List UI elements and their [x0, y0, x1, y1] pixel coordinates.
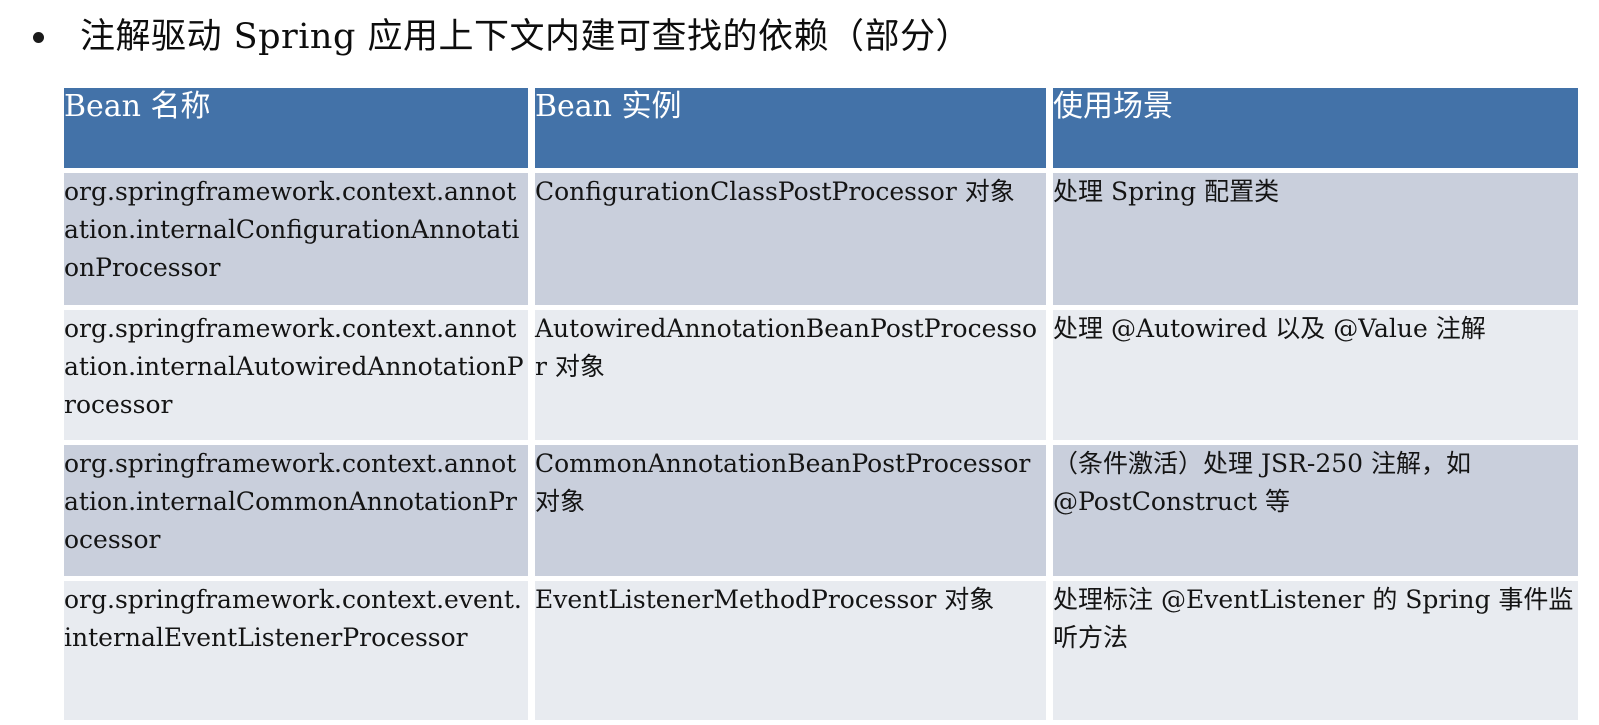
cell-bean-name-text: org.springframework.context.event.intern… [64, 581, 528, 657]
cell-usage: 处理 Spring 配置类 [1053, 173, 1578, 305]
cell-usage-text: 处理标注 @EventListener 的 Spring 事件监听方法 [1053, 581, 1578, 657]
cell-usage: 处理标注 @EventListener 的 Spring 事件监听方法 [1053, 581, 1578, 720]
row-gutter-1 [528, 581, 535, 720]
column-header-bean-instance-label: Bean 实例 [535, 89, 682, 124]
cell-bean-instance: AutowiredAnnotationBeanPostProcessor 对象 [535, 310, 1046, 440]
dependency-table-wrapper: Bean 名称 Bean 实例 使用场景 [64, 88, 1578, 710]
table-row[interactable]: org.springframework.context.annotation.i… [64, 445, 1578, 576]
table-row[interactable]: org.springframework.context.annotation.i… [64, 310, 1578, 440]
cell-usage-text: 处理 Spring 配置类 [1053, 173, 1578, 211]
cell-bean-name: org.springframework.context.event.intern… [64, 581, 528, 720]
header-row: Bean 名称 Bean 实例 使用场景 [64, 88, 1578, 168]
table-row[interactable]: org.springframework.context.annotation.i… [64, 173, 1578, 305]
cell-bean-instance-text: AutowiredAnnotationBeanPostProcessor 对象 [535, 310, 1046, 386]
slide-title-row: 注解驱动 Spring 应用上下文内建可查找的依赖（部分） [24, 8, 1564, 66]
cell-bean-instance-text: EventListenerMethodProcessor 对象 [535, 581, 1046, 619]
header-gutter-2 [1046, 88, 1053, 168]
column-header-bean-name-label: Bean 名称 [64, 89, 211, 124]
cell-bean-name: org.springframework.context.annotation.i… [64, 445, 528, 576]
cell-usage-text: （条件激活）处理 JSR-250 注解，如 @PostConstruct 等 [1053, 445, 1578, 521]
cell-bean-instance-text: CommonAnnotationBeanPostProcessor 对象 [535, 445, 1046, 521]
slide-canvas: 注解驱动 Spring 应用上下文内建可查找的依赖（部分） Bean 名称 Be… [0, 0, 1599, 725]
cell-usage: （条件激活）处理 JSR-250 注解，如 @PostConstruct 等 [1053, 445, 1578, 576]
dependency-table: Bean 名称 Bean 实例 使用场景 [64, 88, 1578, 720]
cell-usage-text: 处理 @Autowired 以及 @Value 注解 [1053, 310, 1578, 348]
header-gutter-1 [528, 88, 535, 168]
cell-bean-name-text: org.springframework.context.annotation.i… [64, 445, 528, 559]
page-title: 注解驱动 Spring 应用上下文内建可查找的依赖（部分） [80, 15, 971, 59]
column-header-usage-label: 使用场景 [1053, 89, 1173, 124]
row-gutter-2 [1046, 445, 1053, 576]
bullet-point-icon [33, 32, 44, 43]
row-gutter-2 [1046, 310, 1053, 440]
cell-bean-instance: ConfigurationClassPostProcessor 对象 [535, 173, 1046, 305]
cell-bean-instance-text: ConfigurationClassPostProcessor 对象 [535, 173, 1046, 211]
cell-bean-instance: CommonAnnotationBeanPostProcessor 对象 [535, 445, 1046, 576]
row-gutter-1 [528, 173, 535, 305]
cell-bean-instance: EventListenerMethodProcessor 对象 [535, 581, 1046, 720]
cell-bean-name-text: org.springframework.context.annotation.i… [64, 173, 528, 287]
table-row[interactable]: org.springframework.context.event.intern… [64, 581, 1578, 720]
cell-bean-name: org.springframework.context.annotation.i… [64, 310, 528, 440]
table-body: org.springframework.context.annotation.i… [64, 168, 1578, 720]
row-gutter-1 [528, 310, 535, 440]
row-gutter-1 [528, 445, 535, 576]
cell-bean-name-text: org.springframework.context.annotation.i… [64, 310, 528, 424]
row-gutter-2 [1046, 581, 1053, 720]
table-header: Bean 名称 Bean 实例 使用场景 [64, 88, 1578, 168]
column-header-bean-instance[interactable]: Bean 实例 [535, 88, 1046, 168]
column-header-usage[interactable]: 使用场景 [1053, 88, 1578, 168]
row-gutter-2 [1046, 173, 1053, 305]
cell-usage: 处理 @Autowired 以及 @Value 注解 [1053, 310, 1578, 440]
column-header-bean-name[interactable]: Bean 名称 [64, 88, 528, 168]
cell-bean-name: org.springframework.context.annotation.i… [64, 173, 528, 305]
